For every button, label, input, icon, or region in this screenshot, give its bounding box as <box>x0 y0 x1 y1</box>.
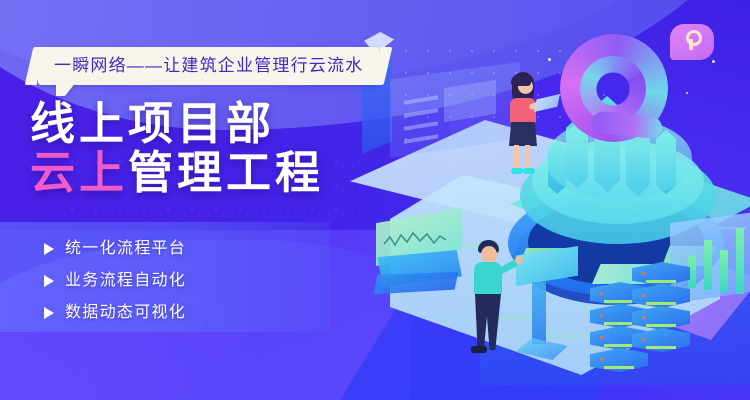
server-indicator-dot <box>600 336 603 339</box>
figure-shoe <box>523 168 535 174</box>
server-led <box>646 324 676 327</box>
triangle-bullet-icon <box>44 307 54 319</box>
figure-fringe <box>511 74 531 86</box>
server-indicator-dot <box>600 314 603 317</box>
triangle-bullet-icon <box>44 275 54 287</box>
figure-leg <box>525 145 530 170</box>
ui-card-thumb <box>444 80 496 122</box>
server-led <box>604 322 634 325</box>
server-indicator-dot <box>642 316 645 319</box>
headline-line-2-rest: 管理工程 <box>128 147 324 198</box>
figure-shoe <box>511 168 523 174</box>
headline-line-2: 云上管理工程 <box>30 149 324 198</box>
triangle-bullet-icon <box>44 243 54 255</box>
isometric-illustration <box>370 0 750 400</box>
list-item: 统一化流程平台 <box>44 234 186 263</box>
figure-hand <box>515 256 523 264</box>
server-indicator-dot <box>642 338 645 341</box>
bar-chart-bar <box>704 240 712 290</box>
bar-chart-bar <box>736 228 744 294</box>
server-led <box>604 366 634 369</box>
server-led <box>646 302 676 305</box>
server-indicator-dot <box>600 292 603 295</box>
figure-legs <box>475 294 501 350</box>
list-item: 业务流程自动化 <box>44 266 186 295</box>
figure-head <box>481 246 497 263</box>
figure-torso <box>510 98 536 124</box>
line-chart-sparkline <box>382 228 448 250</box>
man-at-kiosk-figure <box>465 240 535 360</box>
list-item-label: 统一化流程平台 <box>65 241 186 257</box>
headline-block: 线上项目部 云上管理工程 <box>30 100 324 197</box>
server-indicator-dot <box>642 294 645 297</box>
figure-leg <box>514 145 519 170</box>
e-logo-icon <box>556 30 686 150</box>
ui-card-line <box>404 108 438 117</box>
list-item: 数据动态可视化 <box>44 298 186 327</box>
feature-list: 统一化流程平台 业务流程自动化 数据动态可视化 <box>44 234 186 330</box>
ui-card-line <box>404 95 438 104</box>
tagline-tail <box>56 82 76 96</box>
headline-line-1: 线上项目部 <box>30 100 324 149</box>
server-led <box>646 346 676 349</box>
server-led <box>604 344 634 347</box>
ui-card-line <box>404 121 438 130</box>
headline-accent: 云上 <box>30 147 128 198</box>
bar-chart-bar <box>720 250 728 292</box>
list-item-label: 数据动态可视化 <box>65 305 186 321</box>
woman-with-laptop-figure <box>496 70 552 176</box>
tagline-text: 一瞬网络——让建筑企业管理行云流水 <box>38 47 379 85</box>
key-icon-shaft <box>689 39 693 50</box>
figure-shoe <box>471 346 487 353</box>
ui-card-line <box>404 134 438 143</box>
figure-skirt <box>509 122 537 146</box>
promo-banner: 一瞬网络——让建筑企业管理行云流水 线上项目部 云上管理工程 统一化流程平台 业… <box>0 0 750 400</box>
server-led <box>646 280 676 283</box>
server-indicator-dot <box>600 358 603 361</box>
tagline-callout: 一瞬网络——让建筑企业管理行云流水 <box>38 47 379 85</box>
server-led <box>604 300 634 303</box>
list-item-label: 业务流程自动化 <box>65 273 186 289</box>
server-indicator-dot <box>642 272 645 275</box>
